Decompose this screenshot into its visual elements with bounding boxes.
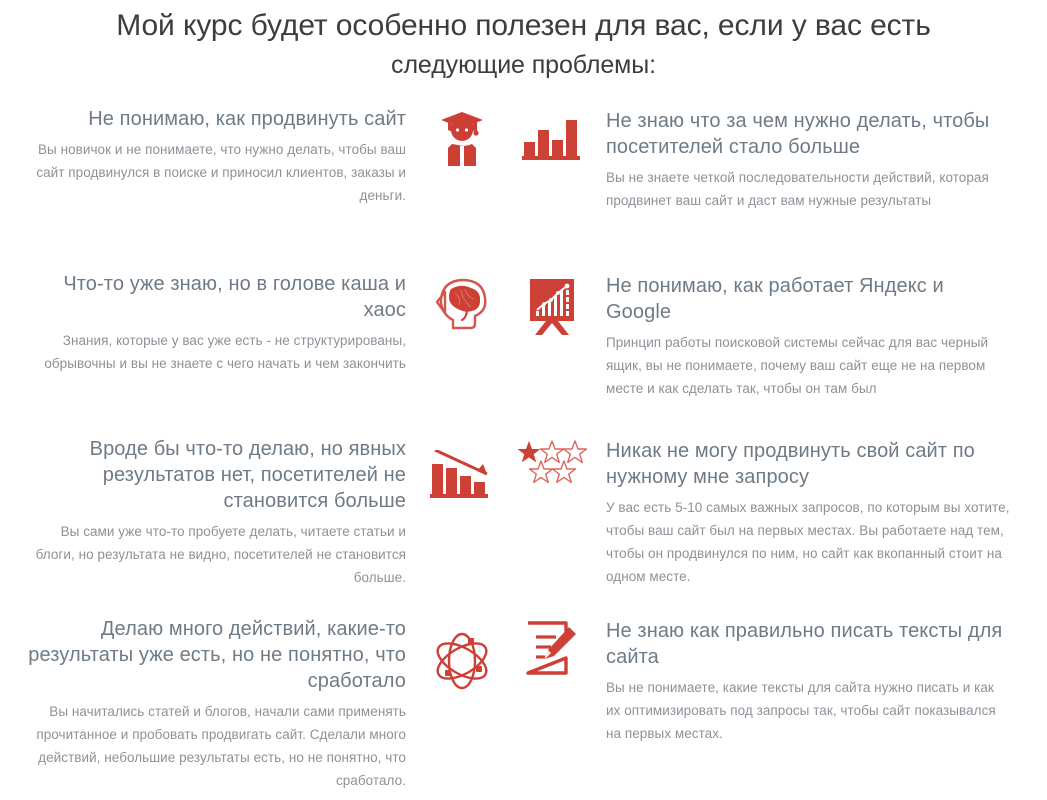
problem-item-3: Что-то уже знаю, но в голове каша и хаос… [0,271,500,436]
problem-item-5: Вроде бы что-то делаю, но явных результа… [0,436,500,616]
problem-text-5: Вроде бы что-то делаю, но явных результа… [24,436,424,616]
problem-text-6: Никак не могу продвинуть свой сайт по ну… [590,436,1011,616]
problem-title-4: Не понимаю, как работает Яндекс и Google [606,273,1011,325]
problem-description-4: Принцип работы поисковой системы сейчас … [606,331,1011,400]
problem-title-3: Что-то уже знаю, но в голове каша и хаос [24,271,406,323]
problem-description-5: Вы сами уже что-то пробуете делать, чита… [24,520,406,589]
bar-chart-decline-icon [424,436,500,616]
problem-description-1: Вы новичок и не понимаете, что нужно дел… [24,138,406,207]
problem-item-6: Никак не могу продвинуть свой сайт по ну… [500,436,1027,616]
five-stars-rating-icon [514,436,590,616]
page-title-line-1: Мой курс будет особенно полезен для вас,… [70,6,977,46]
atom-icon [424,616,500,792]
page-title-line-2: следующие проблемы: [70,46,977,84]
problem-title-5: Вроде бы что-то делаю, но явных результа… [24,436,406,514]
presentation-board-icon [514,271,590,436]
problem-description-6: У вас есть 5-10 самых важных запросов, п… [606,496,1011,588]
bar-chart-growth-icon [514,106,590,271]
page-header: Мой курс будет особенно полезен для вас,… [0,0,1047,84]
problem-text-7: Делаю много действий, какие-то результат… [24,616,424,792]
document-pencil-icon [514,616,590,792]
problem-text-4: Не понимаю, как работает Яндекс и Google… [590,271,1011,436]
problem-item-4: Не понимаю, как работает Яндекс и Google… [500,271,1027,436]
problem-text-1: Не понимаю, как продвинуть сайт Вы нович… [24,106,424,271]
problem-description-2: Вы не знаете четкой последовательности д… [606,166,1011,212]
problem-item-8: Не знаю как правильно писать тексты для … [500,616,1027,792]
problems-grid: Не понимаю, как продвинуть сайт Вы нович… [0,106,1047,792]
problem-description-8: Вы не понимаете, какие тексты для сайта … [606,676,1011,745]
problem-description-7: Вы начитались статей и блогов, начали са… [24,700,406,792]
problem-item-7: Делаю много действий, какие-то результат… [0,616,500,792]
problem-text-2: Не знаю что за чем нужно делать, чтобы п… [590,106,1011,271]
problems-page: Мой курс будет особенно полезен для вас,… [0,0,1047,800]
problem-item-1: Не понимаю, как продвинуть сайт Вы нович… [0,106,500,271]
problem-title-8: Не знаю как правильно писать тексты для … [606,618,1011,670]
problem-text-3: Что-то уже знаю, но в голове каша и хаос… [24,271,424,436]
problem-title-1: Не понимаю, как продвинуть сайт [24,106,406,132]
problem-title-7: Делаю много действий, какие-то результат… [24,616,406,694]
brain-head-icon [424,271,500,436]
problem-text-8: Не знаю как правильно писать тексты для … [590,616,1011,792]
graduate-student-icon [424,106,500,271]
problem-title-6: Никак не могу продвинуть свой сайт по ну… [606,438,1011,490]
problem-item-2: Не знаю что за чем нужно делать, чтобы п… [500,106,1027,271]
problem-description-3: Знания, которые у вас уже есть - не стру… [24,329,406,375]
problem-title-2: Не знаю что за чем нужно делать, чтобы п… [606,108,1011,160]
